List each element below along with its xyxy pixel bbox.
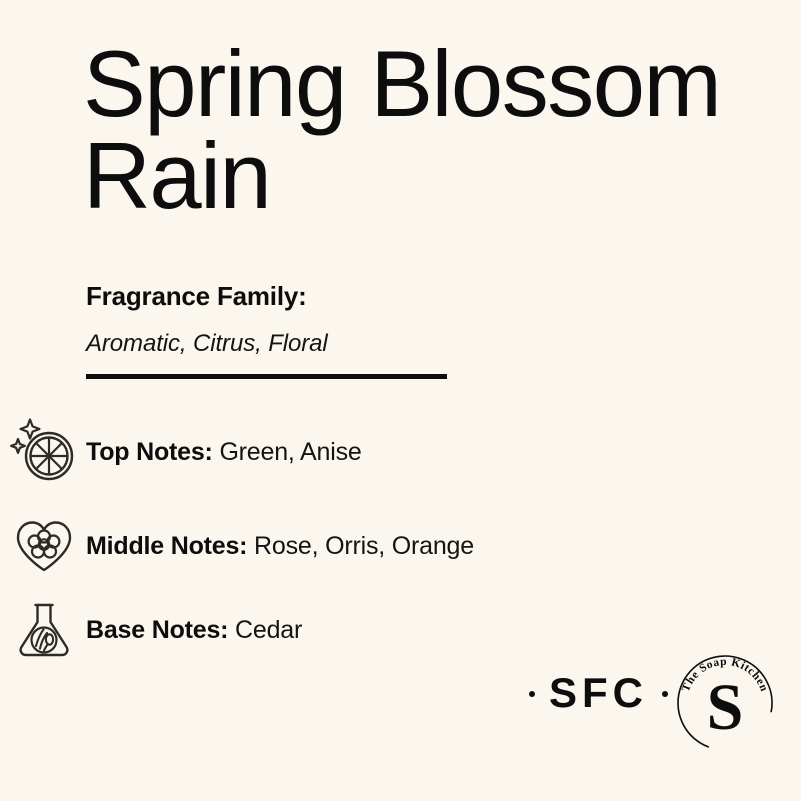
divider xyxy=(86,374,447,379)
note-text-middle: Middle Notes: Rose, Orris, Orange xyxy=(86,532,474,561)
note-text-top: Top Notes: Green, Anise xyxy=(86,438,362,467)
note-row-top: Top Notes: Green, Anise xyxy=(0,415,801,489)
heart-flower-icon xyxy=(8,509,80,583)
page-title: Spring Blossom Rain xyxy=(83,38,773,222)
soap-kitchen-logo: The Soap Kitchen S xyxy=(671,649,779,757)
flask-wood-icon xyxy=(8,593,80,667)
sfc-label: SFC xyxy=(549,669,648,719)
note-value-middle: Rose, Orris, Orange xyxy=(254,532,474,560)
sfc-wordmark: SFC xyxy=(529,669,668,719)
note-value-base: Cedar xyxy=(235,616,302,644)
citrus-slice-sparkle-icon xyxy=(8,415,80,489)
fragrance-family-heading: Fragrance Family: xyxy=(86,281,307,312)
note-label-middle: Middle Notes: xyxy=(86,532,247,560)
footer: SFC The Soap Kitchen S xyxy=(0,661,801,801)
note-label-top: Top Notes: xyxy=(86,438,213,466)
note-row-middle: Middle Notes: Rose, Orris, Orange xyxy=(0,509,801,583)
badge-monogram: S xyxy=(707,671,744,744)
dot-right-icon xyxy=(662,691,668,697)
note-value-top: Green, Anise xyxy=(219,438,361,466)
fragrance-family-value: Aromatic, Citrus, Floral xyxy=(86,330,328,358)
note-label-base: Base Notes: xyxy=(86,616,228,644)
note-text-base: Base Notes: Cedar xyxy=(86,616,302,645)
dot-left-icon xyxy=(529,691,535,697)
fragrance-card: Spring Blossom Rain Fragrance Family: Ar… xyxy=(0,0,801,801)
